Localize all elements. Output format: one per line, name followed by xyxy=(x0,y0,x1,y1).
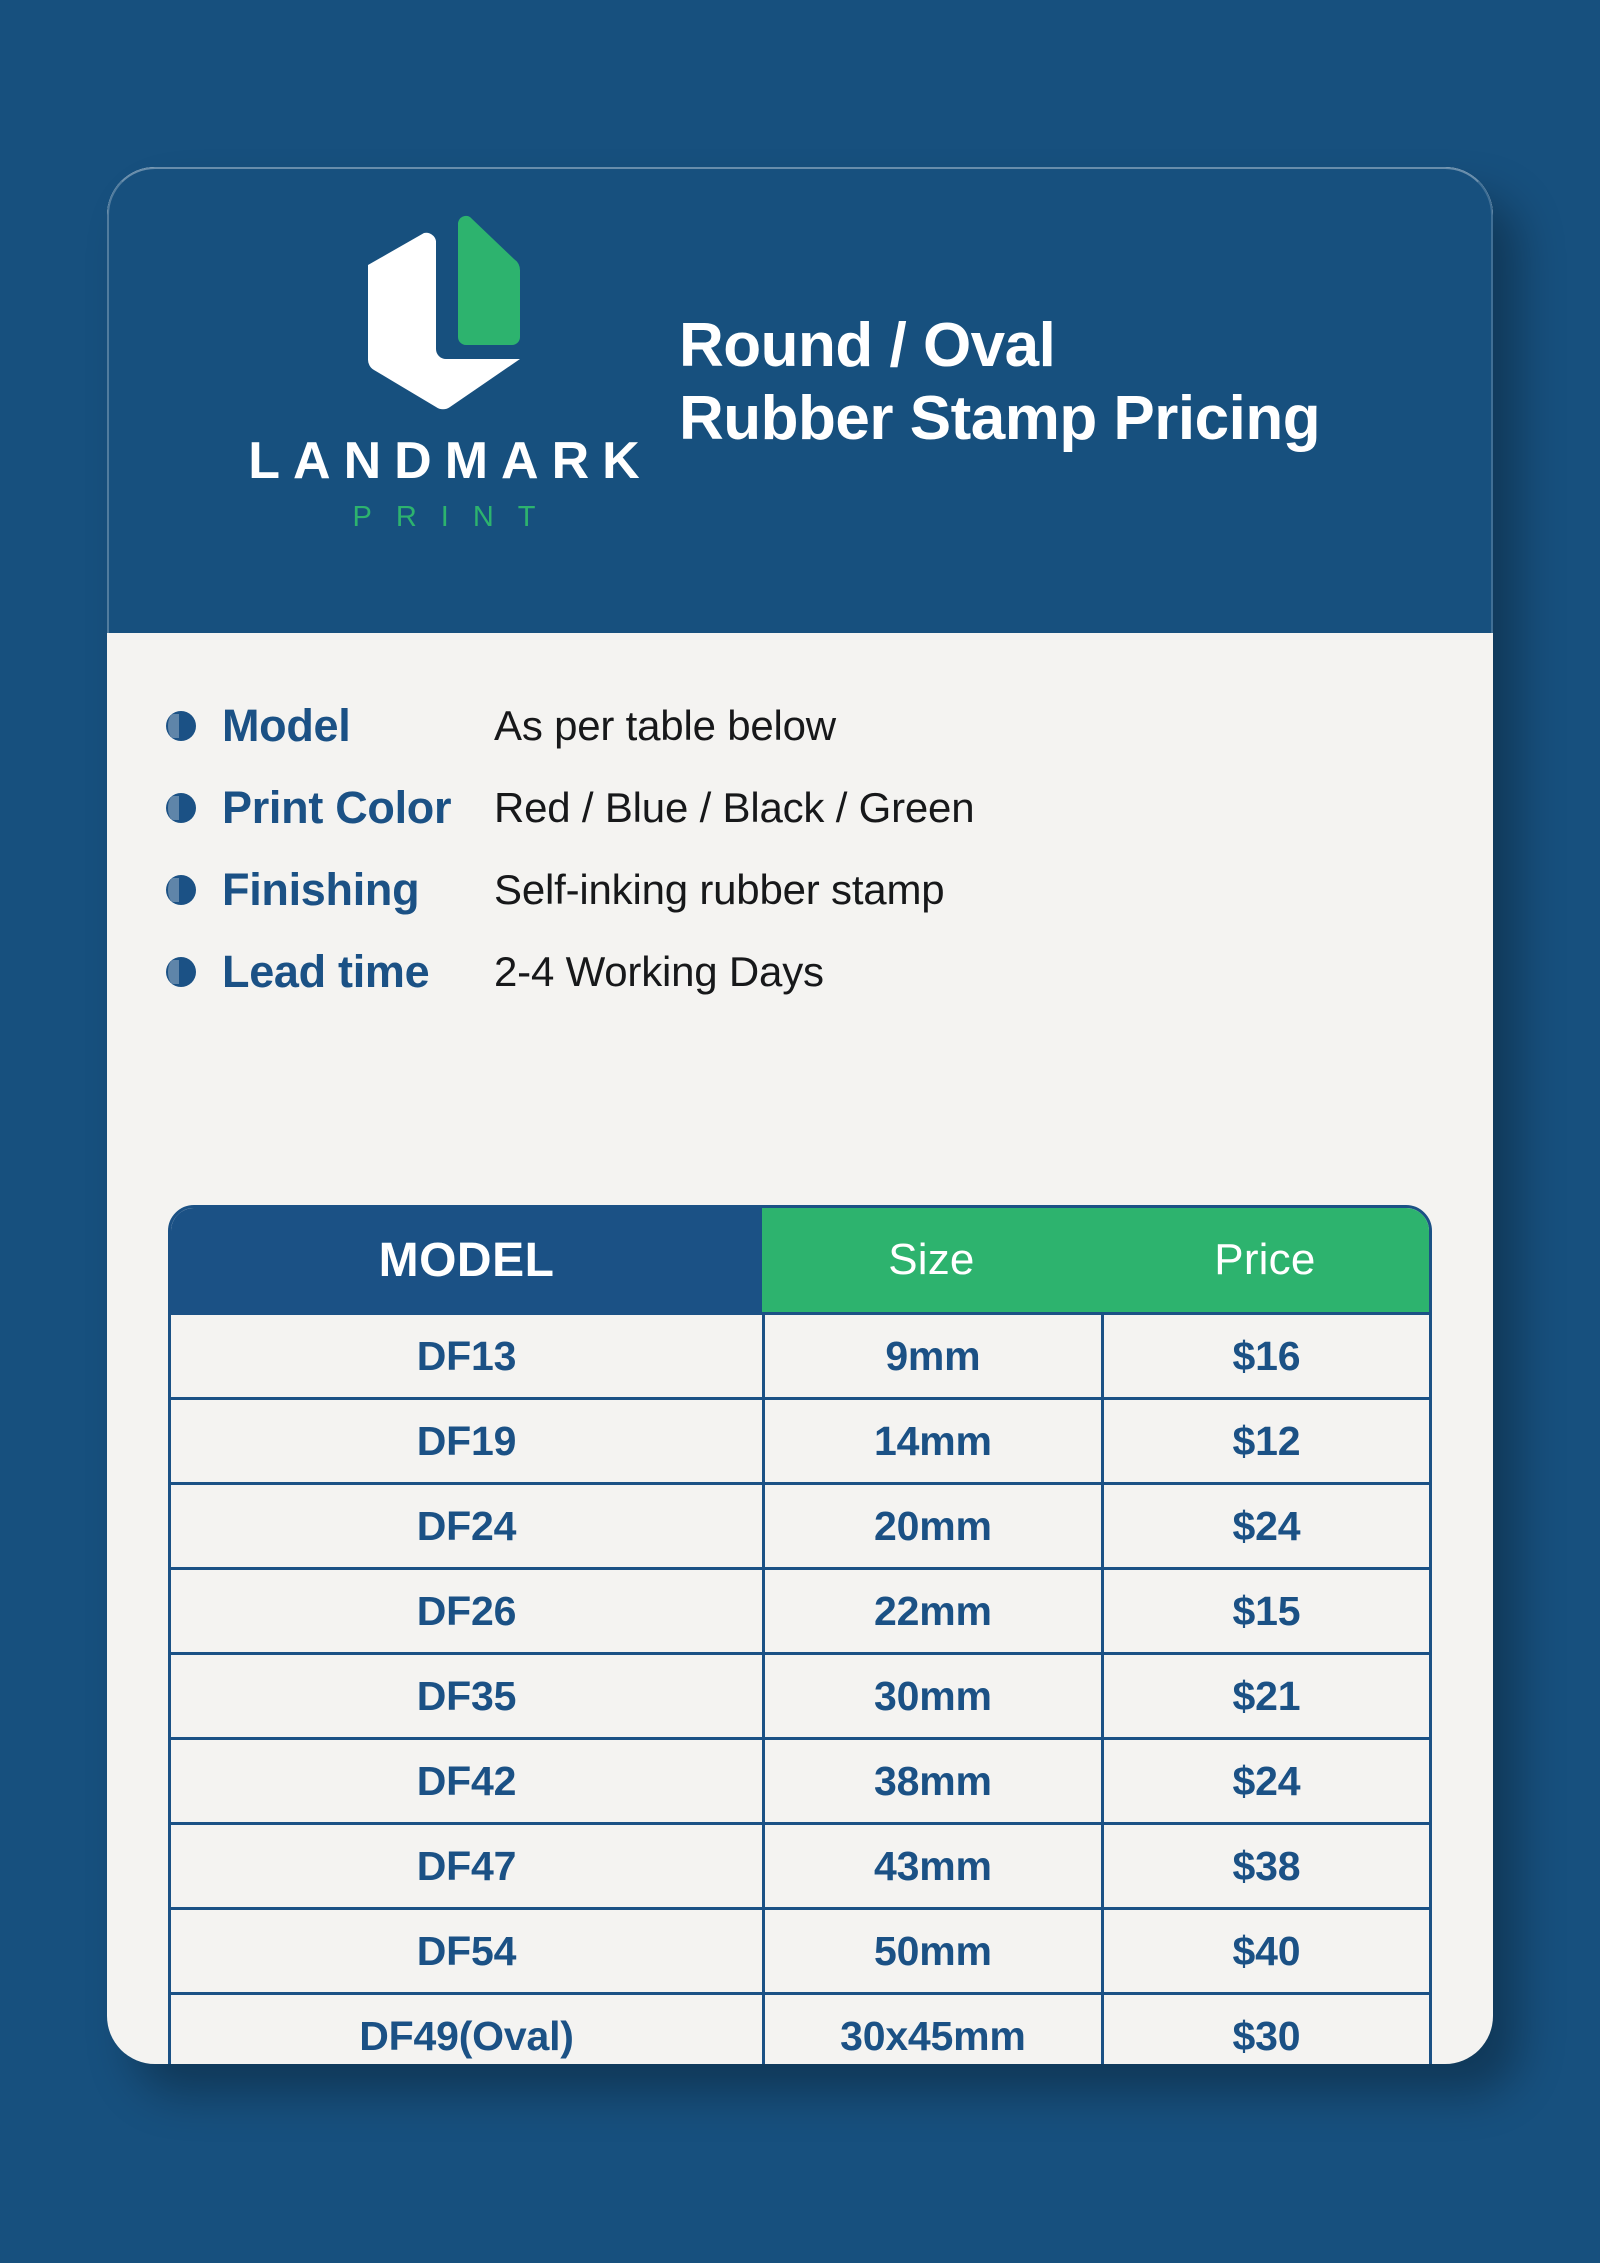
cell-size: 14mm xyxy=(762,1397,1101,1482)
spec-label: Lead time xyxy=(222,946,494,998)
cell-size: 38mm xyxy=(762,1737,1101,1822)
landmark-l-logo-icon xyxy=(346,207,542,417)
cell-model: DF19 xyxy=(171,1397,762,1482)
cell-price: $24 xyxy=(1101,1482,1429,1567)
brand-tagline: PRINT xyxy=(329,503,560,532)
page-title-line-1: Round / Oval xyxy=(679,309,1320,382)
table-header-row: MODEL Size Price xyxy=(171,1208,1429,1312)
bullet-icon xyxy=(166,793,196,823)
cell-size: 30mm xyxy=(762,1652,1101,1737)
cell-model: DF26 xyxy=(171,1567,762,1652)
cell-size: 20mm xyxy=(762,1482,1101,1567)
spec-value: Red / Blue / Black / Green xyxy=(494,784,974,832)
pricing-card: LANDMARK PRINT Round / Oval Rubber Stamp… xyxy=(107,167,1493,2064)
table-row: DF47 43mm $38 xyxy=(171,1822,1429,1907)
page-title-line-2: Rubber Stamp Pricing xyxy=(679,382,1320,455)
cell-price: $38 xyxy=(1101,1822,1429,1907)
price-table-head: MODEL Size Price xyxy=(171,1208,1429,1312)
spec-row-finishing: Finishing Self-inking rubber stamp xyxy=(107,849,1493,931)
cell-size: 43mm xyxy=(762,1822,1101,1907)
spec-row-print-color: Print Color Red / Blue / Black / Green xyxy=(107,767,1493,849)
price-table-container: MODEL Size Price DF13 9mm $16 DF19 14mm … xyxy=(107,1205,1493,2064)
cell-model: DF35 xyxy=(171,1652,762,1737)
cell-price: $40 xyxy=(1101,1907,1429,1992)
spec-row-model: Model As per table below xyxy=(107,685,1493,767)
cell-size: 30x45mm xyxy=(762,1992,1101,2064)
cell-model: DF13 xyxy=(171,1312,762,1397)
card-header: LANDMARK PRINT Round / Oval Rubber Stamp… xyxy=(107,167,1493,633)
cell-price: $30 xyxy=(1101,1992,1429,2064)
spec-label: Model xyxy=(222,700,494,752)
table-row: DF35 30mm $21 xyxy=(171,1652,1429,1737)
cell-size: 50mm xyxy=(762,1907,1101,1992)
price-table: MODEL Size Price DF13 9mm $16 DF19 14mm … xyxy=(168,1205,1432,2064)
spec-list: Model As per table below Print Color Red… xyxy=(107,633,1493,1013)
cell-price: $24 xyxy=(1101,1737,1429,1822)
cell-size: 9mm xyxy=(762,1312,1101,1397)
column-header-model: MODEL xyxy=(171,1208,762,1312)
table-row: DF13 9mm $16 xyxy=(171,1312,1429,1397)
bullet-icon xyxy=(166,875,196,905)
cell-price: $15 xyxy=(1101,1567,1429,1652)
bullet-icon xyxy=(166,957,196,987)
column-header-price: Price xyxy=(1101,1208,1429,1312)
cell-price: $21 xyxy=(1101,1652,1429,1737)
table-row: DF54 50mm $40 xyxy=(171,1907,1429,1992)
table-row: DF42 38mm $24 xyxy=(171,1737,1429,1822)
table-row: DF26 22mm $15 xyxy=(171,1567,1429,1652)
brand-block: LANDMARK PRINT xyxy=(219,207,669,532)
table-row: DF49(Oval) 30x45mm $30 xyxy=(171,1992,1429,2064)
cell-model: DF49(Oval) xyxy=(171,1992,762,2064)
cell-model: DF47 xyxy=(171,1822,762,1907)
spec-label: Print Color xyxy=(222,782,494,834)
cell-size: 22mm xyxy=(762,1567,1101,1652)
cell-model: DF42 xyxy=(171,1737,762,1822)
cell-price: $12 xyxy=(1101,1397,1429,1482)
cell-price: $16 xyxy=(1101,1312,1429,1397)
spec-value: As per table below xyxy=(494,702,836,750)
page-title: Round / Oval Rubber Stamp Pricing xyxy=(679,309,1320,455)
price-table-body: DF13 9mm $16 DF19 14mm $12 DF24 20mm $24… xyxy=(171,1312,1429,2064)
spec-value: Self-inking rubber stamp xyxy=(494,866,944,914)
table-row: DF19 14mm $12 xyxy=(171,1397,1429,1482)
column-header-size: Size xyxy=(762,1208,1101,1312)
table-row: DF24 20mm $24 xyxy=(171,1482,1429,1567)
brand-name: LANDMARK xyxy=(235,435,652,487)
bullet-icon xyxy=(166,711,196,741)
spec-row-lead-time: Lead time 2-4 Working Days xyxy=(107,931,1493,1013)
cell-model: DF54 xyxy=(171,1907,762,1992)
spec-value: 2-4 Working Days xyxy=(494,948,824,996)
spec-label: Finishing xyxy=(222,864,494,916)
cell-model: DF24 xyxy=(171,1482,762,1567)
